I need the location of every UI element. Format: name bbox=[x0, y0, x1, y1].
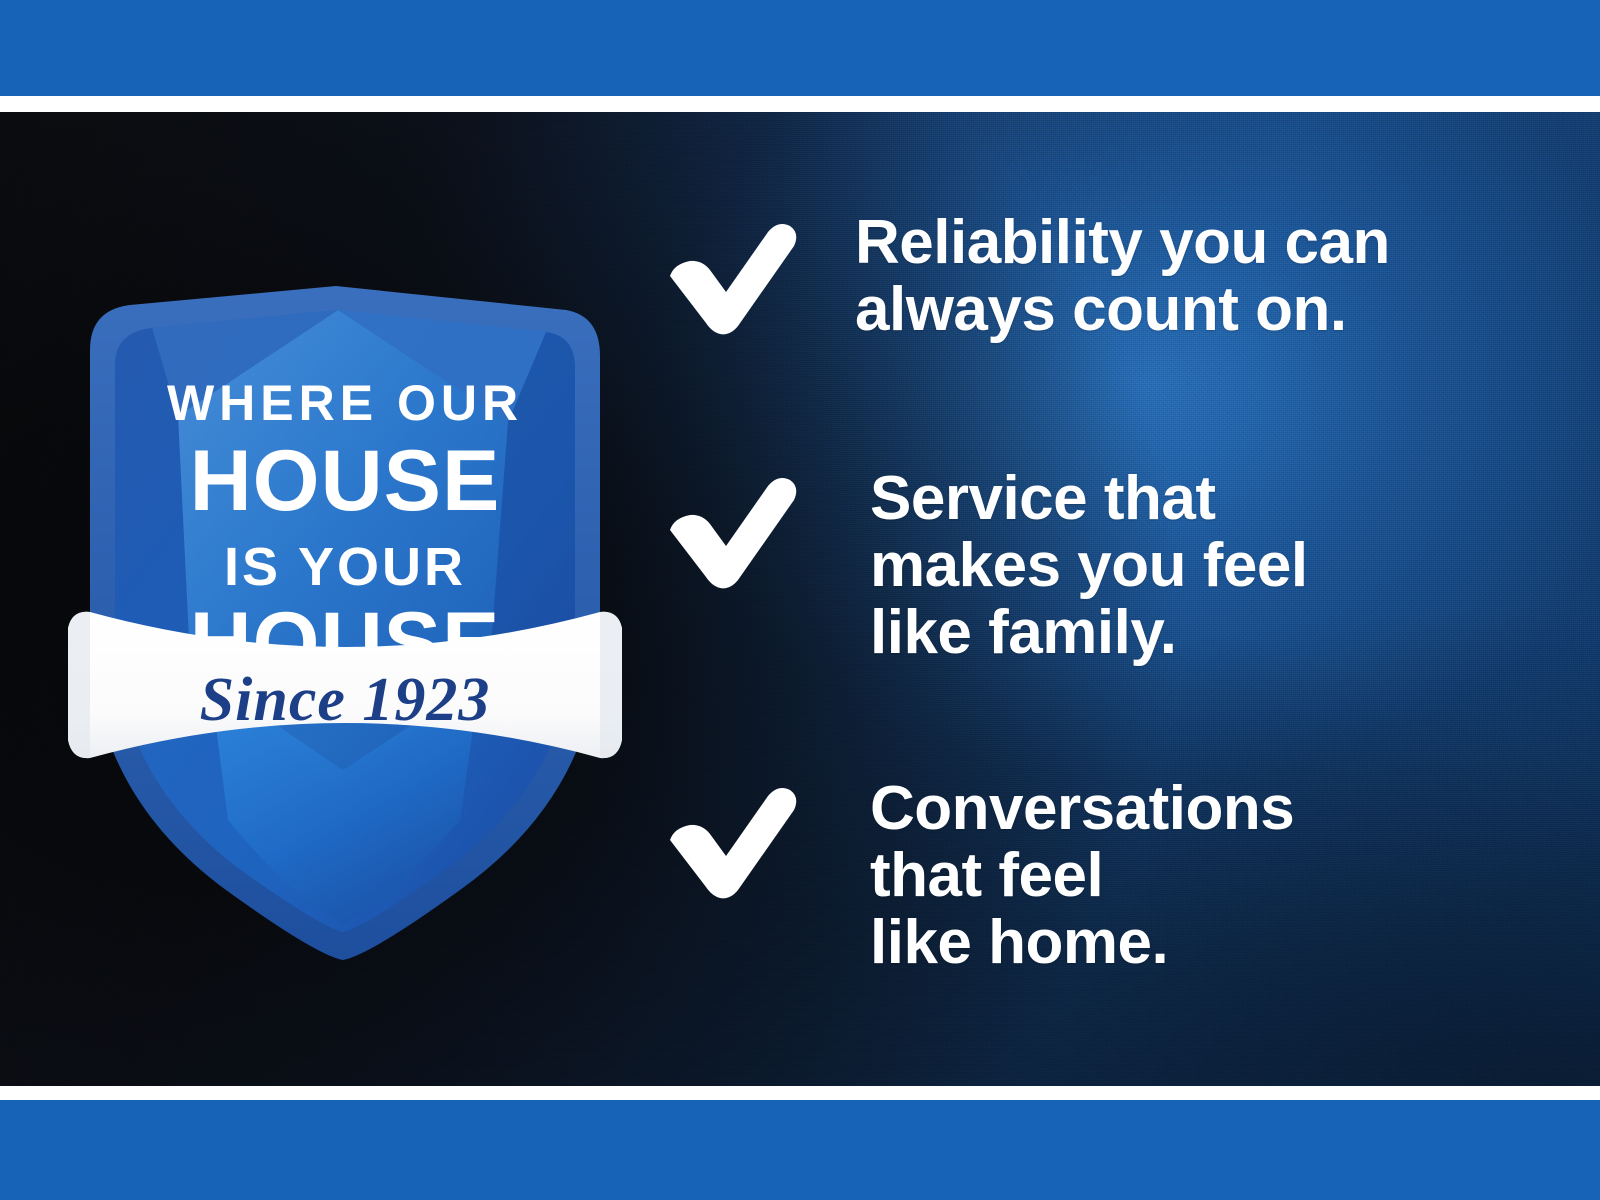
ribbon-label: Since 1923 bbox=[200, 666, 491, 734]
benefit-text: Reliability you can always count on. bbox=[855, 210, 1390, 344]
benefit-text: Conversations that feel like home. bbox=[870, 776, 1294, 977]
logo-line-2: HOUSE bbox=[190, 433, 501, 529]
benefit-item: Conversations that feel like home. bbox=[660, 780, 1294, 977]
logo-line-3: IS YOUR bbox=[224, 537, 466, 597]
checkmark-icon bbox=[660, 780, 810, 900]
benefits-list: Reliability you can always count on. Ser… bbox=[660, 150, 1540, 1050]
checkmark-icon bbox=[660, 216, 810, 336]
checkmark-icon bbox=[660, 470, 810, 590]
benefit-text: Service that makes you feel like family. bbox=[870, 466, 1308, 667]
bottom-brand-bar bbox=[0, 1100, 1600, 1200]
benefit-item: Reliability you can always count on. bbox=[660, 216, 1390, 344]
top-brand-bar bbox=[0, 0, 1600, 96]
promo-graphic: WHERE OUR HOUSE IS YOUR HOUSE Since 1923… bbox=[0, 0, 1600, 1200]
logo-line-1: WHERE OUR bbox=[167, 375, 523, 431]
brand-logo: WHERE OUR HOUSE IS YOUR HOUSE Since 1923 bbox=[60, 160, 630, 960]
benefit-item: Service that makes you feel like family. bbox=[660, 470, 1308, 667]
